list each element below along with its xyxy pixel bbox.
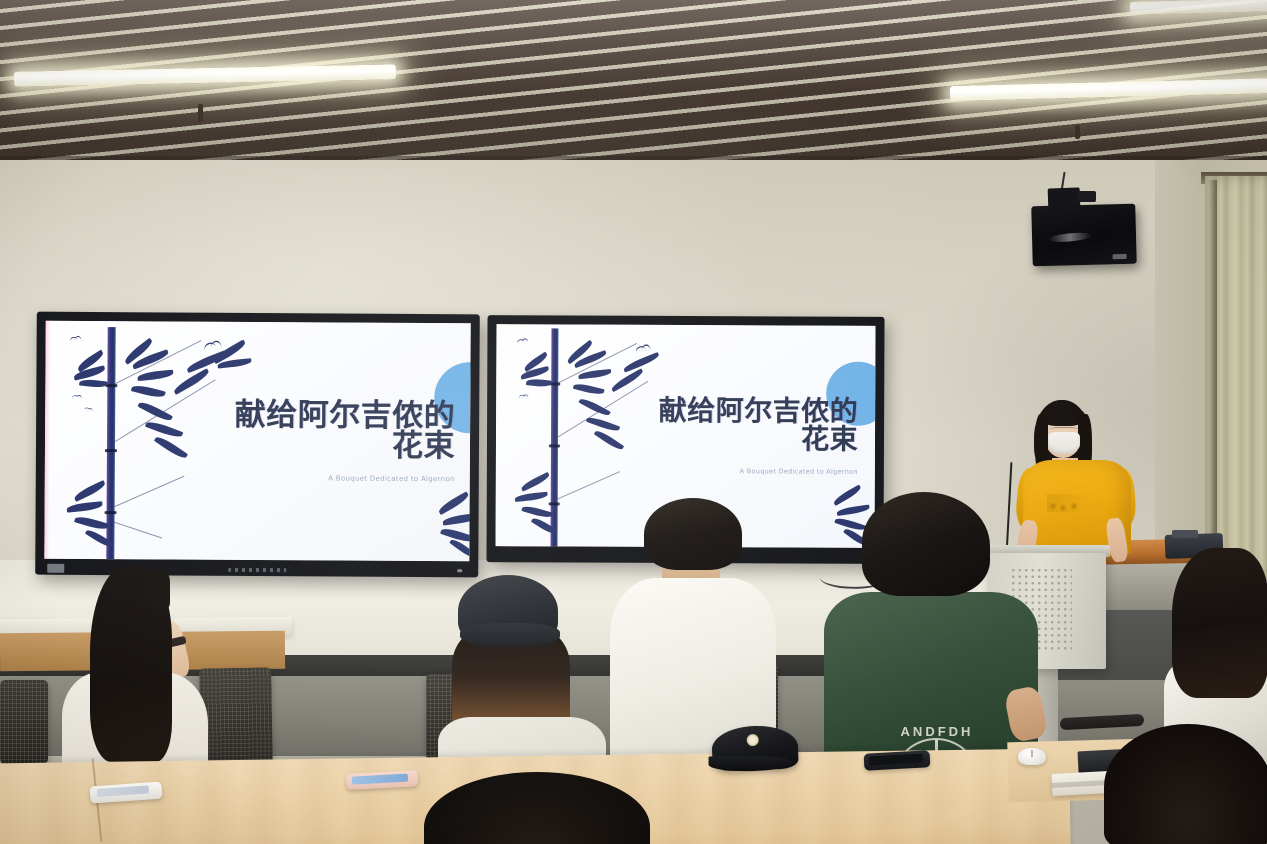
bird-icon <box>203 341 216 350</box>
bamboo-leaf <box>514 492 548 502</box>
speaker-mount-arm <box>1078 191 1096 202</box>
bamboo-leaf <box>573 382 605 396</box>
bamboo-leaf <box>521 504 553 519</box>
ceiling-hook <box>1075 125 1080 139</box>
bird-icon <box>635 345 646 353</box>
bamboo-node <box>105 449 117 452</box>
student-hair <box>1172 548 1267 698</box>
student-hair <box>862 492 990 596</box>
bamboo-twig <box>114 476 184 507</box>
ceiling-hook <box>198 104 203 122</box>
bird-icon <box>519 394 526 398</box>
bamboo-leaf <box>526 378 552 388</box>
ceiling <box>0 0 1267 168</box>
slide-title-line-2: 花束 <box>596 425 858 455</box>
bamboo-twig <box>112 521 162 538</box>
mesh-office-chair[interactable] <box>0 680 48 764</box>
bamboo-node <box>105 511 117 514</box>
slide-subtitle: A Bouquet Dedicated to Algernon <box>185 474 455 484</box>
wall-mounted-speaker <box>1031 204 1137 267</box>
speaker-badge <box>1113 254 1127 259</box>
bird-icon <box>72 395 79 399</box>
cap-logo-icon <box>747 734 759 746</box>
left-display-panel: 献给阿尔吉侬的 花束 A Bouquet Dedicated to Algern… <box>44 321 470 562</box>
monitor-mount-clip <box>1172 530 1198 538</box>
seated-student-green-tee: ANDFDH <box>818 492 1048 772</box>
bird-icon <box>69 336 78 342</box>
slide-title-line-2: 花束 <box>165 429 455 462</box>
cap-brim <box>709 756 793 771</box>
bamboo-leaf <box>137 370 174 382</box>
presenter-face-mask <box>1048 432 1080 454</box>
bamboo-node <box>549 502 560 505</box>
beanie-brim <box>460 623 560 647</box>
white-computer-mouse[interactable] <box>1018 748 1046 765</box>
student-torso-green-tee: ANDFDH <box>824 592 1038 772</box>
bamboo-leaf <box>79 378 108 388</box>
bird-icon <box>516 339 525 345</box>
black-smartphone[interactable] <box>864 750 931 770</box>
bird-icon <box>84 407 90 410</box>
bamboo-leaf <box>73 480 107 502</box>
bamboo-leaf <box>520 472 551 492</box>
bamboo-twig <box>558 471 621 499</box>
bamboo-leaf <box>131 383 166 399</box>
speaker-highlight <box>1048 231 1093 243</box>
bamboo-leaf <box>442 513 471 526</box>
presentation-slide: 献给阿尔吉侬的 花束 A Bouquet Dedicated to Algern… <box>44 321 470 562</box>
bamboo-leaf <box>74 514 109 531</box>
classroom-scene: 献给阿尔吉侬的 花束 A Bouquet Dedicated to Algern… <box>0 0 1267 844</box>
slide-subtitle: A Bouquet Dedicated to Algernon <box>616 467 858 476</box>
student-hair <box>644 498 742 570</box>
bamboo-leaf <box>66 501 103 513</box>
student-hair-front <box>144 570 170 610</box>
display-power-led <box>457 569 462 572</box>
foreground-head-right <box>1104 724 1267 844</box>
bamboo-node <box>549 444 560 447</box>
bamboo-leaf <box>610 368 645 392</box>
bamboo-leaf <box>172 368 211 395</box>
presenter-shirt-graphic <box>1047 494 1087 512</box>
left-interactive-display[interactable]: 献给阿尔吉侬的 花束 A Bouquet Dedicated to Algern… <box>35 312 480 578</box>
bamboo-leaf <box>437 491 471 515</box>
slide-edge-tint <box>44 321 50 559</box>
